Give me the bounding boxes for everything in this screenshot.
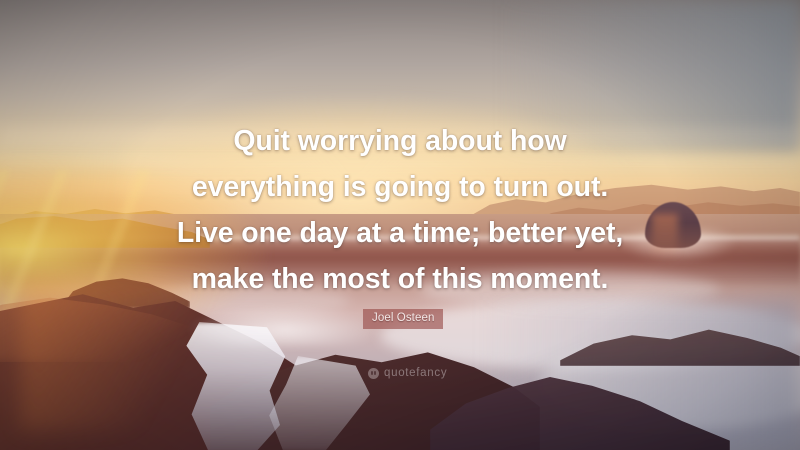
quote-line-4: make the most of this moment. bbox=[0, 256, 800, 302]
quote-line-2: everything is going to turn out. bbox=[0, 164, 800, 210]
author-attribution: Joel Osteen bbox=[363, 309, 443, 329]
lens-flare-streak bbox=[20, 280, 250, 430]
quote-text-block: Quit worrying about how everything is go… bbox=[0, 118, 800, 302]
watermark: quotefancy bbox=[368, 367, 447, 379]
quote-line-3: Live one day at a time; better yet, bbox=[0, 210, 800, 256]
quote-marks-badge-icon bbox=[368, 368, 379, 379]
quote-line-1: Quit worrying about how bbox=[0, 118, 800, 164]
quote-image-canvas: Quit worrying about how everything is go… bbox=[0, 0, 800, 450]
watermark-brand: quotefancy bbox=[384, 367, 447, 379]
